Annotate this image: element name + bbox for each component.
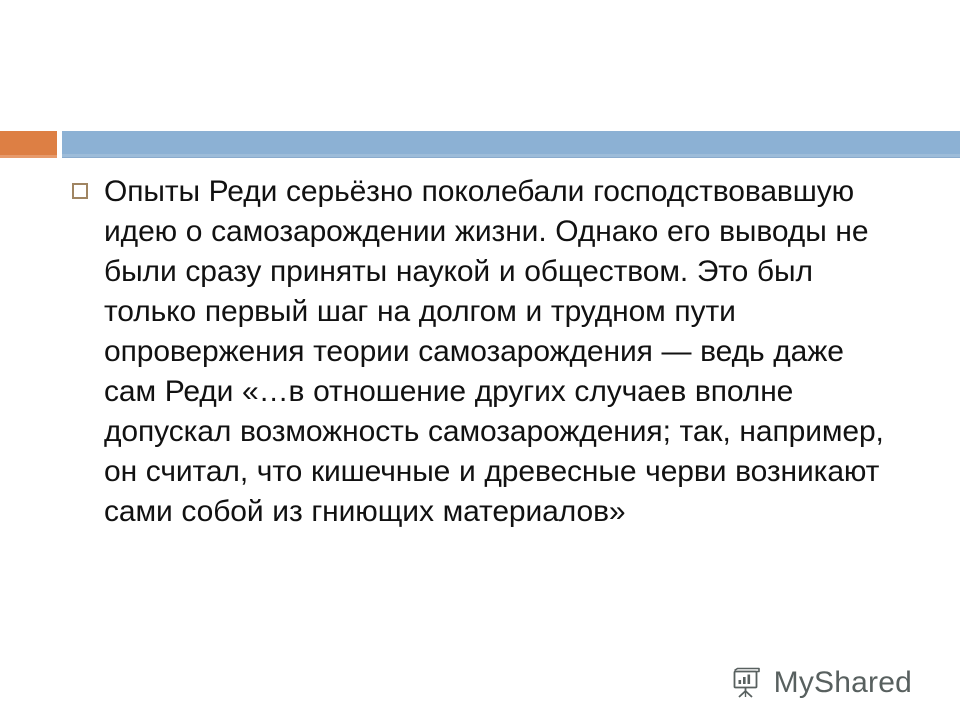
slide-body: Опыты Реди серьёзно поколебали господств… <box>72 172 902 532</box>
presentation-easel-chart-icon <box>730 666 764 700</box>
body-paragraph-text: Опыты Реди серьёзно поколебали господств… <box>104 172 902 532</box>
bullet-list-item: Опыты Реди серьёзно поколебали господств… <box>72 172 902 532</box>
header-accent-block <box>0 131 57 158</box>
header-bar <box>62 131 960 158</box>
slide-canvas: Опыты Реди серьёзно поколебали господств… <box>0 0 960 720</box>
brand-watermark: MyShared <box>730 666 912 700</box>
slide-header-band <box>0 131 960 158</box>
hollow-square-bullet-icon <box>72 183 88 199</box>
brand-label: MyShared <box>774 666 912 700</box>
